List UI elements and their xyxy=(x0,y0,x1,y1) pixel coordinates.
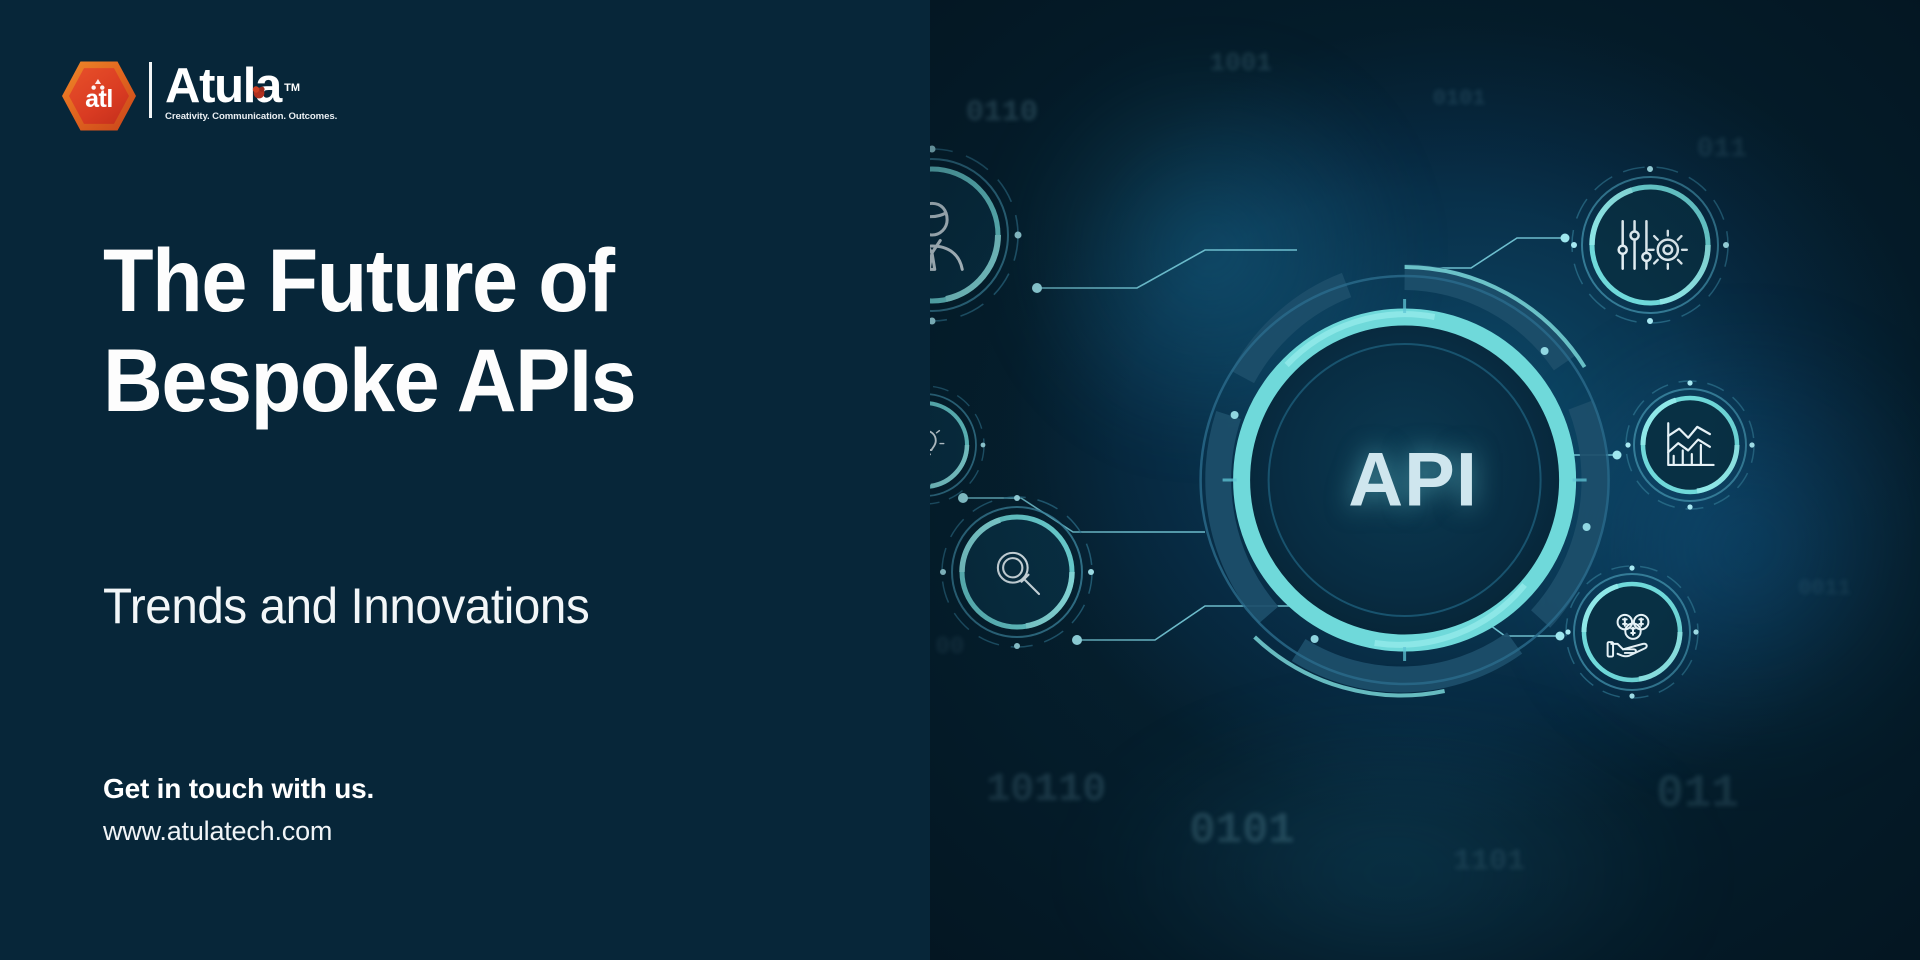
binary-digit: 011 xyxy=(1656,768,1739,820)
page-title: The Future of Bespoke APIs xyxy=(103,230,773,430)
hexagon-mark-icon: atl xyxy=(62,60,136,132)
binary-digit: 0101 xyxy=(1433,86,1486,111)
binary-digit: 10110 xyxy=(986,768,1106,813)
sliders-gear-icon xyxy=(1612,207,1688,283)
hero-node-revenue xyxy=(1560,560,1705,705)
trademark-symbol: TM xyxy=(284,62,300,114)
wordmark: Atula TM xyxy=(165,60,281,112)
hand-coins-icon xyxy=(1604,604,1662,662)
api-hero-graphic: 0110 1001 0101 011 00 10110 0101 1101 01… xyxy=(905,0,1920,960)
binary-digit: 1101 xyxy=(1453,845,1525,879)
page-subtitle: Trends and Innovations xyxy=(103,578,589,634)
binary-digit: 1001 xyxy=(1210,48,1272,78)
binary-digit: 0011 xyxy=(1798,576,1851,601)
content-panel: atl Atula TM Creativity. Communication xyxy=(0,0,930,960)
hexagon-mark-label: atl xyxy=(62,60,136,132)
headline-line-1: The Future of xyxy=(103,230,773,330)
website-url[interactable]: www.atulatech.com xyxy=(103,812,374,850)
hero-node-discovery xyxy=(935,490,1100,655)
binary-digit: 0110 xyxy=(966,96,1038,130)
line-chart-icon xyxy=(1661,416,1719,474)
api-hub-ring: API xyxy=(1194,265,1614,695)
hero-node-settings xyxy=(1565,160,1735,330)
contact-block: Get in touch with us. www.atulatech.com xyxy=(103,770,374,850)
presentation-slide: 0110 1001 0101 011 00 10110 0101 1101 01… xyxy=(0,0,1920,960)
brand-logo[interactable]: atl Atula TM Creativity. Communication xyxy=(62,60,337,136)
hero-node-analytics xyxy=(1620,375,1760,515)
cloud-dot-icon xyxy=(251,57,267,72)
mark-glyph-icon xyxy=(91,77,104,88)
magnifier-icon xyxy=(990,545,1046,601)
binary-digit: 0101 xyxy=(1189,806,1295,856)
contact-headline: Get in touch with us. xyxy=(103,770,374,808)
api-center-label: API xyxy=(1194,437,1614,524)
headline-line-2: Bespoke APIs xyxy=(103,330,773,430)
logo-divider xyxy=(149,62,152,118)
